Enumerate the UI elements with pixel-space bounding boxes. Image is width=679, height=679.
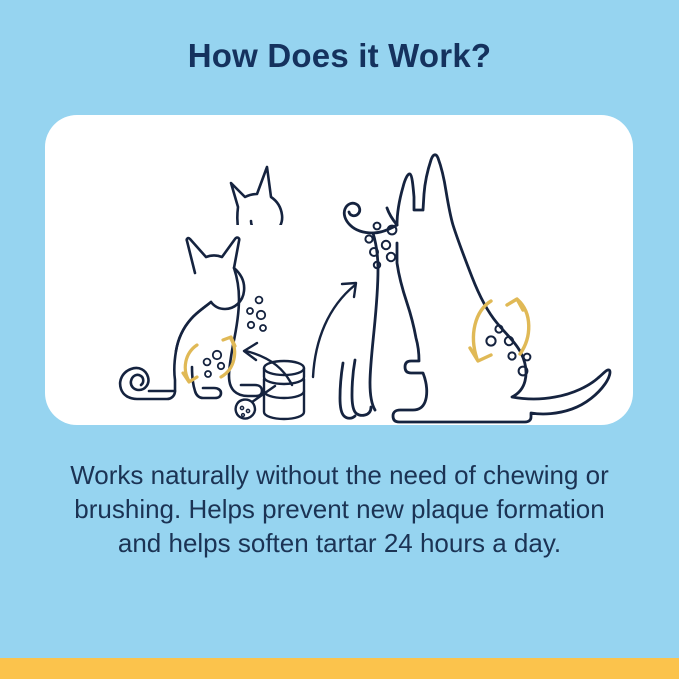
caption-text: Works naturally without the need of chew…: [60, 458, 619, 560]
illustration-card: Line drawing of a cat on the left and a …: [45, 115, 633, 425]
how-it-works-panel: How Does it Work? Line drawing of a cat …: [0, 0, 679, 679]
cat-silhouette: [100, 225, 300, 405]
dog-action-arrows: [470, 299, 529, 361]
dog-snout-path: [387, 208, 397, 225]
dog-foreleg-path: [352, 360, 371, 415]
dog-arrow-down-head: [470, 348, 491, 361]
scoop-powder-specks: [240, 406, 249, 416]
dog-mouth-bubbles: [365, 223, 396, 269]
dog-chest-path: [344, 203, 397, 233]
dog-body-path: [393, 155, 610, 422]
arrow-jar-to-dog: [313, 283, 356, 377]
dog-neck-path: [370, 233, 378, 410]
illustration-alt-text: Line drawing of a cat on the left and a …: [45, 115, 46, 116]
bottom-accent-band: [0, 658, 679, 679]
dog-silhouette: [340, 155, 610, 422]
arrow-jar-to-dog-shaft: [313, 285, 355, 377]
page-title: How Does it Work?: [0, 36, 679, 76]
how-it-works-diagram: [45, 115, 633, 425]
